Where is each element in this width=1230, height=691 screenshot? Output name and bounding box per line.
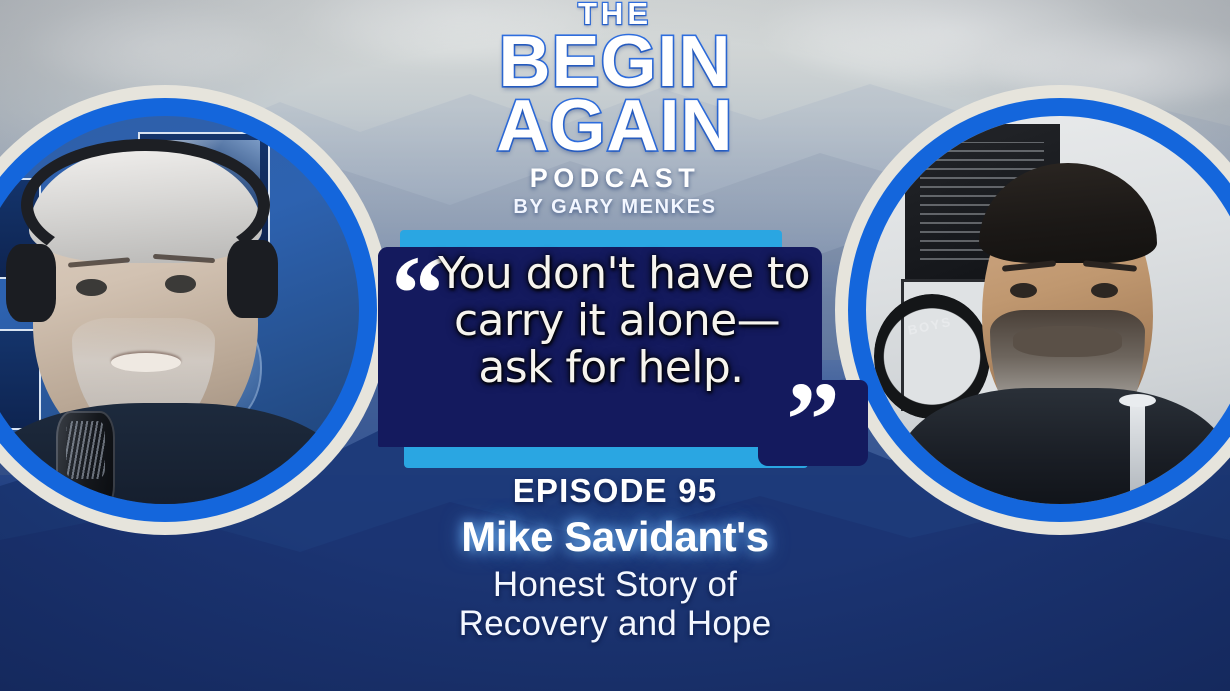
guest-room-scene: BOYS: [866, 116, 1230, 504]
episode-guest-name: Mike Savidant's: [0, 515, 1230, 559]
quotation-close-icon: ”: [786, 382, 840, 460]
episode-subtitle: Honest Story of Recovery and Hope: [0, 565, 1230, 643]
guest-portrait: BOYS: [835, 85, 1230, 535]
episode-number: EPISODE 95: [0, 474, 1230, 509]
guest-mustache: [1013, 326, 1122, 357]
guest-eye: [1010, 283, 1037, 299]
host-portrait: [0, 85, 390, 535]
host-photo: [0, 116, 359, 504]
quote-line-1: You don't have to: [430, 250, 810, 297]
host-eye: [165, 275, 196, 292]
quote-text: You don't have to carry it alone— ask fo…: [430, 250, 810, 391]
quote-line-2: carry it alone—: [430, 297, 810, 344]
headphone-earcup: [227, 240, 277, 318]
quote-line-3: ask for help.: [430, 344, 810, 391]
headphone-earcup: [6, 244, 56, 322]
episode-info: EPISODE 95 Mike Savidant's Honest Story …: [0, 474, 1230, 643]
guest-photo: BOYS: [866, 116, 1230, 504]
podcast-episode-thumbnail: THE BEGIN AGAIN PODCAST BY GARY MENKES: [0, 0, 1230, 691]
host-mouth: [111, 353, 181, 372]
episode-subtitle-line-2: Recovery and Hope: [0, 604, 1230, 643]
episode-subtitle-line-1: Honest Story of: [0, 565, 1230, 604]
host-studio-scene: [0, 116, 359, 504]
